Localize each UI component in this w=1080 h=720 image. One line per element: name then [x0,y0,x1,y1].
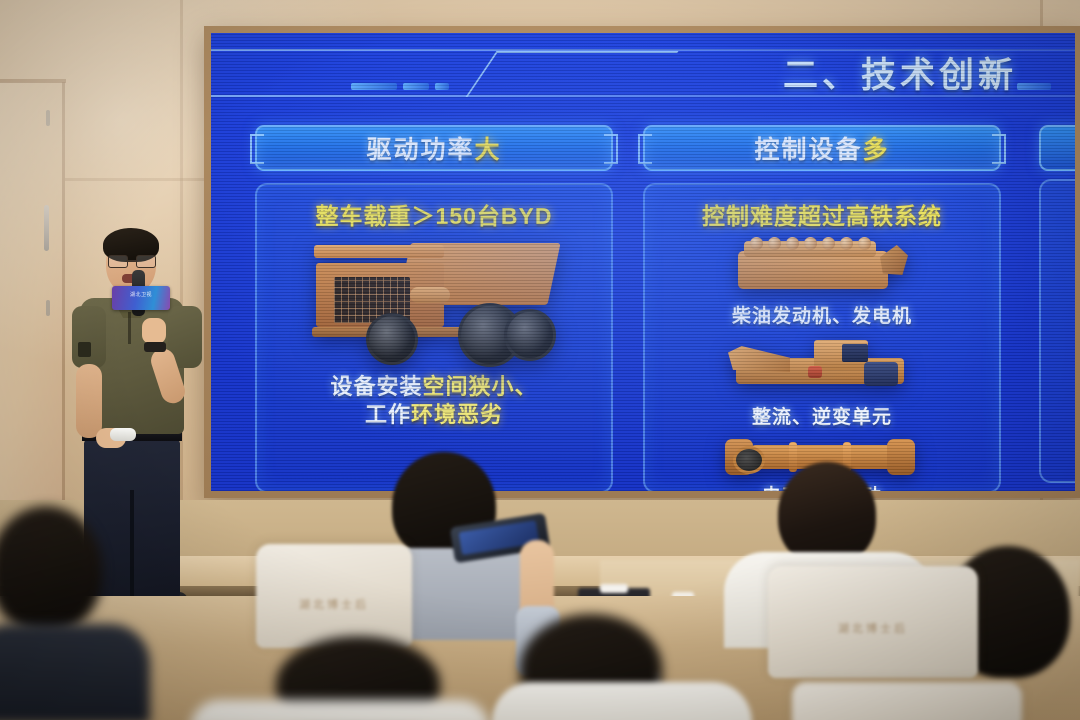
pill-notch-left-icon [638,134,652,164]
sleeve-logo-patch [78,342,91,357]
audience-chair[interactable]: 湖北博士后 [768,566,978,678]
column-body: 整车载重＞150台BYD [255,183,613,491]
foreground-head [0,506,102,632]
mining-haul-truck-image [306,235,562,367]
slide-header: 二、技术创新 [211,43,1075,105]
door-handle[interactable] [44,205,49,251]
header-dash [435,83,449,90]
door-frame [0,79,66,83]
foreground-shoulders [0,624,150,720]
microphone-flag-label: 湖北卫视 [112,291,170,298]
audience-chair[interactable]: 湖北博士后 [256,544,412,648]
tissue [600,584,628,593]
header-chevron-decoration [465,51,678,97]
column-footnote: 设备安装空间狭小、 工作环境恶劣 [257,373,611,428]
foreground-shoulders [492,682,752,720]
audience-head [778,462,876,566]
header-dash [1017,83,1051,90]
header-dash [403,83,429,90]
column-pill-accent: 大 [475,130,502,166]
column-heading: 控制难度超过高铁系统 [651,197,993,231]
wristwatch [144,342,166,352]
column-body: 控制难度超过高铁系统 柴油发动机、发电机 [643,183,1001,491]
conference-presentation-photo: 二、技术创新 驱动功率大 整车载重＞150台BYD [0,0,1080,720]
led-screen-bezel: 二、技术创新 驱动功率大 整车载重＞150台BYD [204,26,1080,498]
slide-column-control-equipment: 控制设备多 控制难度超过高铁系统 [643,125,1001,491]
column-pill-accent: 多 [863,130,890,166]
pill-notch-left-icon [250,134,264,164]
pill-notch-right-icon [992,134,1006,164]
slide-title: 二、技术创新 [783,47,1017,98]
foreground-shoulders [190,700,490,720]
column-pill-label: 驱动功率 [366,130,474,166]
presentation-slide: 二、技术创新 驱动功率大 整车载重＞150台BYD [211,33,1075,491]
door-hinge [46,300,50,316]
chair-brand-label: 湖北博士后 [768,620,978,636]
room-door[interactable] [0,82,65,502]
audience-chair[interactable] [792,682,1022,720]
eyeglasses-icon [108,255,154,266]
equipment-caption: 整流、逆变单元 [645,402,999,429]
equipment-caption: 柴油发动机、发电机 [645,301,999,328]
column-heading: 整车载重＞150台BYD [263,197,605,231]
column-header-pill: 驱动功率大 [255,125,613,171]
column-header-pill-partial [1039,125,1075,171]
column-pill-label: 控制设备 [754,130,862,166]
chair-brand-label: 湖北博士后 [256,596,412,612]
footnote-part: 工作 [365,402,411,427]
microphone-flag-badge: 湖北卫视 [112,286,170,310]
column-header-pill: 控制设备多 [643,125,1001,171]
pill-notch-right-icon [604,134,618,164]
footnote-part: 空间狭小、 [423,374,538,399]
header-dash [351,83,397,90]
door-hinge [46,110,50,126]
diesel-engine-image [730,235,914,301]
footnote-part: 环境恶劣 [411,402,503,427]
rectifier-inverter-image [722,332,922,402]
footnote-part: 设备安装 [330,374,422,399]
column-body-partial [1039,179,1075,483]
presentation-clicker [110,428,136,441]
slide-column-drive-power: 驱动功率大 整车载重＞150台BYD [255,125,613,491]
